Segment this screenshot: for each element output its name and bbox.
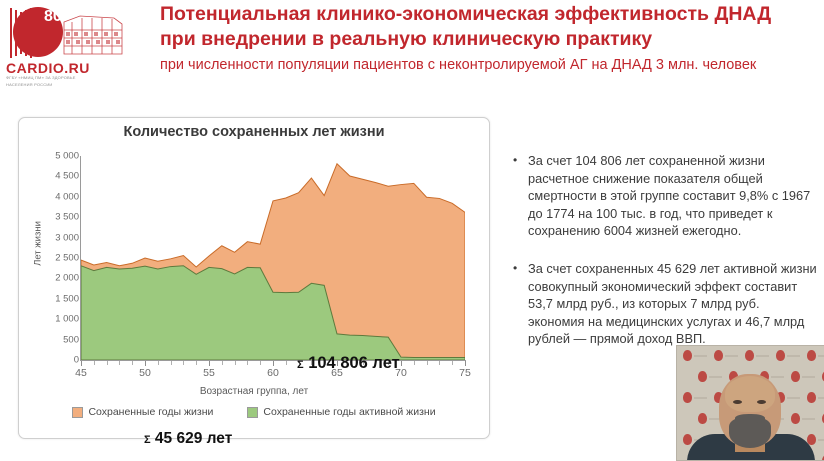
speaker-forehead <box>725 376 775 412</box>
legend-item-saved-life-years[interactable]: Сохраненные годы жизни <box>72 406 213 418</box>
logo-brand-text: CARDIO.RU <box>6 60 90 76</box>
legend-label-orange: Сохраненные годы жизни <box>88 406 213 418</box>
x-axis-ticks <box>81 361 465 366</box>
cardio-ru-logo: 80 CARDIO.RU ФГБУ «НМИЦ ПМ» ЗА ЗДОРОВЬЕ … <box>4 2 134 88</box>
y-tick-label: 0 <box>33 355 79 366</box>
x-tick <box>286 361 287 365</box>
y-tick-label: 4 500 <box>33 171 79 182</box>
x-tick <box>465 361 466 366</box>
x-tick <box>183 361 184 365</box>
x-tick <box>235 361 236 365</box>
x-tick <box>273 361 274 366</box>
annotation-orange-text: 104 806 лет <box>308 354 400 372</box>
backdrop-text-line <box>771 376 784 378</box>
backdrop-logo-icon <box>698 413 707 424</box>
x-tick-label: 50 <box>139 367 151 379</box>
backdrop-logo-icon <box>791 413 800 424</box>
x-tick <box>247 361 248 365</box>
x-tick <box>145 361 146 366</box>
speaker-mustache <box>735 414 765 423</box>
slide-title-line2: при внедрении в реальную клиническую пра… <box>160 27 820 52</box>
x-tick-label: 45 <box>75 367 87 379</box>
y-tick-label: 1 000 <box>33 314 79 325</box>
logo-subtitle-line2: НАСЕЛЕНИЯ РОССИИ <box>6 82 126 88</box>
backdrop-logo-icon <box>791 371 800 382</box>
bullet-text: За счет сохраненных 45 629 лет активной … <box>528 261 817 346</box>
backdrop-logo-icon <box>745 350 754 361</box>
chart-legend: Сохраненные годы жизни Сохраненные годы … <box>19 406 489 418</box>
x-tick <box>94 361 95 365</box>
x-tick <box>158 361 159 365</box>
x-axis-tick-labels: 45505560657075 <box>81 367 465 383</box>
backdrop-logo-icon <box>807 350 816 361</box>
y-tick-label: 5 000 <box>33 151 79 162</box>
bullet-item: • За счет 104 806 лет сохраненной жизни … <box>510 152 818 240</box>
backdrop-logo-icon <box>807 392 816 403</box>
webcam-video-overlay[interactable] <box>676 345 824 461</box>
speaker-eye-right <box>757 400 766 404</box>
backdrop-logo-icon <box>698 371 707 382</box>
bullet-marker: • <box>513 152 517 170</box>
backdrop-text-line <box>709 376 722 378</box>
sigma-symbol-orange: Σ <box>297 359 304 371</box>
sigma-symbol-green: Σ <box>144 434 151 446</box>
x-tick <box>401 361 402 366</box>
chart-panel: Количество сохраненных лет жизни Лет жиз… <box>18 117 490 439</box>
y-tick-label: 3 500 <box>33 212 79 223</box>
x-axis-title: Возрастная группа, лет <box>19 386 489 397</box>
annotation-green-text: 45 629 лет <box>155 430 232 447</box>
backdrop-logo-icon <box>683 350 692 361</box>
y-tick-label: 2 000 <box>33 273 79 284</box>
x-tick <box>414 361 415 365</box>
area-chart-svg <box>81 156 465 360</box>
backdrop-text-line <box>818 355 824 357</box>
legend-swatch-green <box>247 407 258 418</box>
y-tick-label: 1 500 <box>33 293 79 304</box>
y-tick-label: 2 500 <box>33 253 79 264</box>
backdrop-logo-icon <box>683 392 692 403</box>
x-tick <box>439 361 440 365</box>
text-panel: • За счет 104 806 лет сохраненной жизни … <box>510 152 818 368</box>
chart-plot-wrapper: Лет жизни 05001 0001 5002 0002 5003 0003… <box>19 118 489 438</box>
x-tick <box>196 361 197 365</box>
y-tick-label: 3 000 <box>33 232 79 243</box>
annotation-total-active-life-years: Σ 45 629 лет <box>144 430 232 448</box>
x-tick <box>119 361 120 365</box>
logo-mark-icon: 80 <box>6 4 126 62</box>
backdrop-text-line <box>802 418 815 420</box>
bullet-text: За счет 104 806 лет сохраненной жизни ра… <box>528 153 810 238</box>
bullet-item: • За счет сохраненных 45 629 лет активно… <box>510 260 818 348</box>
svg-text:80: 80 <box>44 8 62 25</box>
backdrop-text-line <box>694 397 707 399</box>
backdrop-text-line <box>694 355 707 357</box>
backdrop-text-line <box>802 376 815 378</box>
backdrop-text-line <box>725 355 738 357</box>
speaker-eye-left <box>733 400 742 404</box>
annotation-total-life-years: Σ 104 806 лет <box>297 354 400 373</box>
backdrop-text-line <box>787 355 800 357</box>
x-tick <box>81 361 82 366</box>
backdrop-logo-icon <box>683 434 692 445</box>
x-tick <box>427 361 428 365</box>
x-tick <box>222 361 223 365</box>
legend-swatch-orange <box>72 407 83 418</box>
x-tick-label: 75 <box>459 367 471 379</box>
x-tick-label: 55 <box>203 367 215 379</box>
backdrop-text-line <box>787 397 800 399</box>
backdrop-text-line <box>756 355 769 357</box>
y-tick-label: 4 000 <box>33 191 79 202</box>
backdrop-logo-icon <box>714 350 723 361</box>
bullet-marker: • <box>513 260 517 278</box>
y-tick-label: 500 <box>33 334 79 345</box>
backdrop-text-line <box>818 439 824 441</box>
x-tick <box>171 361 172 365</box>
x-tick-label: 60 <box>267 367 279 379</box>
title-block: Потенциальная клинико-экономическая эффе… <box>160 2 820 76</box>
x-tick <box>260 361 261 365</box>
legend-item-saved-active-life-years[interactable]: Сохраненные годы активной жизни <box>247 406 435 418</box>
slide-header: 80 CARDIO.RU ФГБУ «НМИЦ ПМ» ЗА ЗДОРОВЬЕ … <box>0 0 824 96</box>
logo-subtitle-line1: ФГБУ «НМИЦ ПМ» ЗА ЗДОРОВЬЕ <box>6 75 126 81</box>
x-tick <box>452 361 453 365</box>
slide-title-line1: Потенциальная клинико-экономическая эффе… <box>160 2 820 27</box>
x-tick <box>209 361 210 366</box>
x-tick <box>132 361 133 365</box>
backdrop-logo-icon <box>776 350 785 361</box>
slide-subtitle: при численности популяции пациентов с не… <box>160 54 820 76</box>
x-tick <box>107 361 108 365</box>
legend-label-green: Сохраненные годы активной жизни <box>263 406 435 418</box>
backdrop-text-line <box>818 397 824 399</box>
